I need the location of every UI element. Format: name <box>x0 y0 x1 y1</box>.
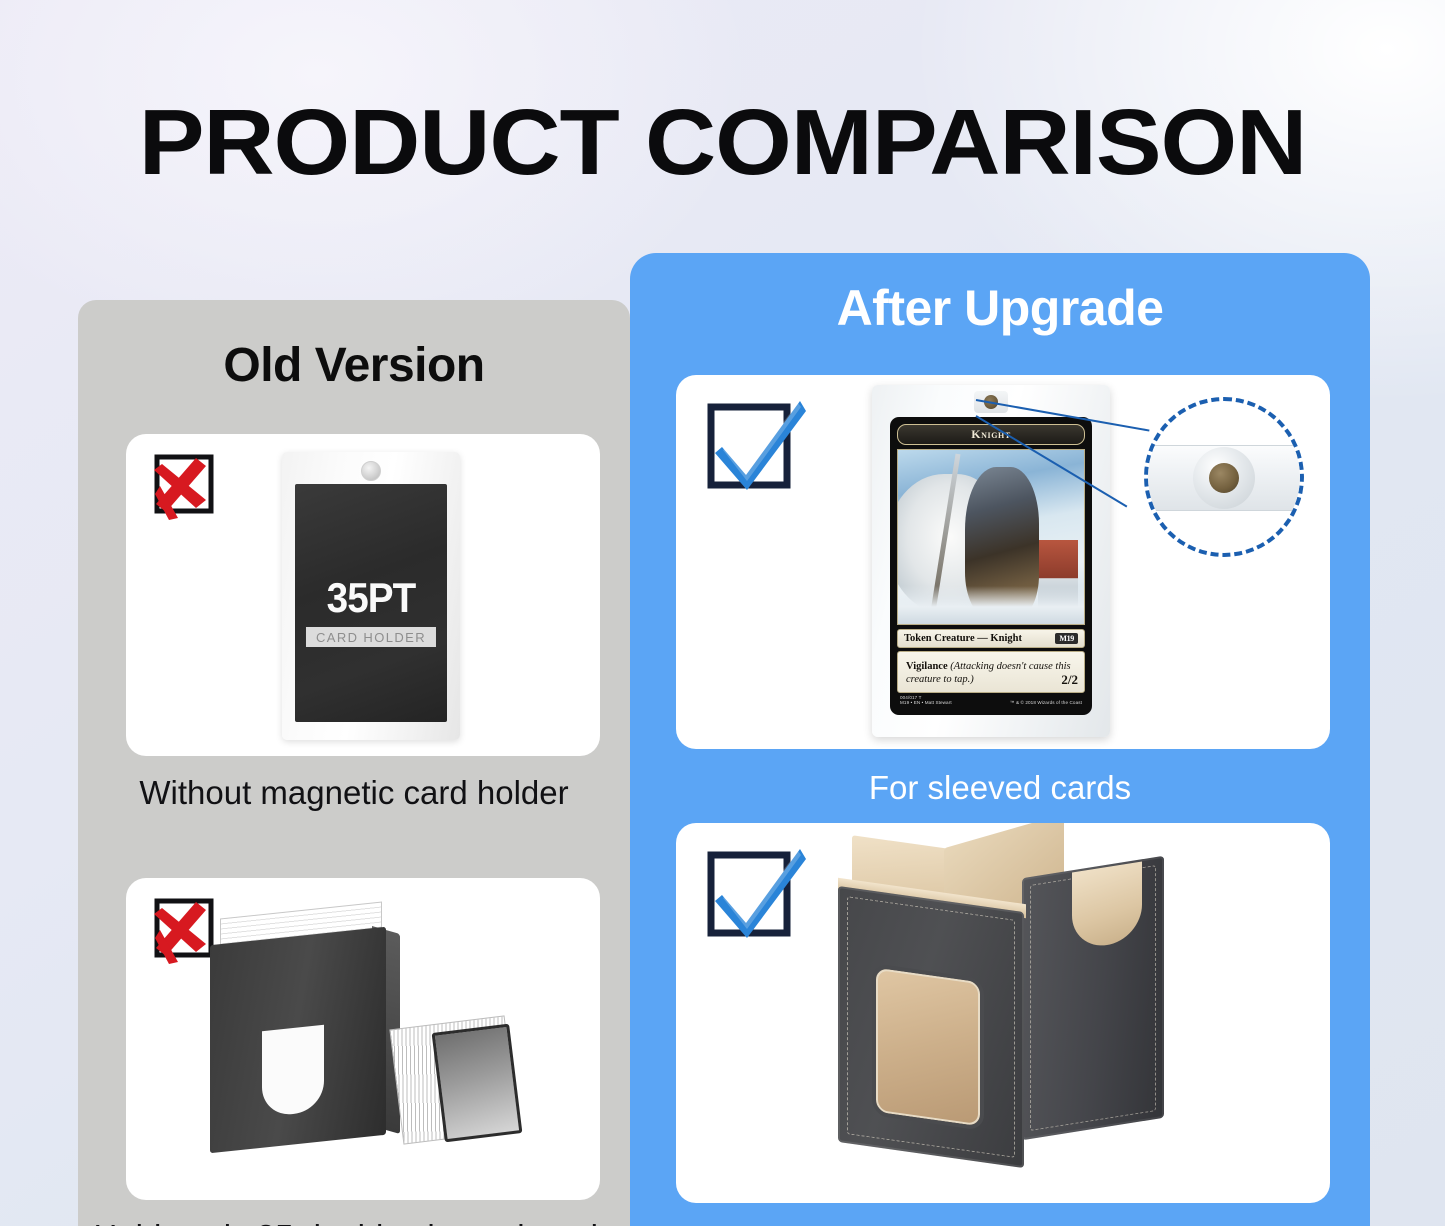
holder-size-label: 35PT <box>301 574 441 622</box>
new-deck-box-graphic <box>826 839 1188 1181</box>
magnetic-card-holder: Knight Token Creature — Knight M19 Vigil… <box>872 385 1110 737</box>
caption-old-item-1: Without magnetic card holder <box>78 774 630 812</box>
product-photo-magnetic-holder: Knight Token Creature — Knight M19 Vigil… <box>676 375 1330 749</box>
card-holder-graphic: 35PT CARD HOLDER <box>282 452 460 740</box>
callout-magnet-stud <box>1193 447 1255 509</box>
product-photo-old-deck-box <box>126 878 600 1200</box>
panel-new-heading: After Upgrade <box>630 279 1370 337</box>
holder-black-insert: 35PT CARD HOLDER <box>295 484 447 722</box>
magnet-detail-callout <box>1144 397 1304 557</box>
holder-hole <box>361 461 381 481</box>
blue-check-icon <box>702 395 806 499</box>
panel-old-heading: Old Version <box>78 338 630 393</box>
card-type-line: Token Creature — Knight <box>904 633 1022 644</box>
card-footer: 004/017 T M19 • EN • Matt Stewart ™ & © … <box>897 693 1085 706</box>
card-text-box: Vigilance (Attacking doesn't cause this … <box>897 651 1085 693</box>
old-deck-box-graphic <box>200 902 426 1150</box>
product-photo-new-deck-box <box>676 823 1330 1203</box>
trading-card: Knight Token Creature — Knight M19 Vigil… <box>890 417 1092 715</box>
blue-check-icon <box>702 843 806 947</box>
panel-after-upgrade: After Upgrade Knight <box>630 253 1370 1226</box>
card-keyword: Vigilance <box>906 661 948 672</box>
art-ground <box>898 586 1084 624</box>
deck-box-thumb-notch <box>262 1025 324 1118</box>
caption-old-item-2: Holds only 35 double sleeved cards <box>78 1218 630 1226</box>
caption-new-item-1: For sleeved cards <box>630 769 1370 807</box>
red-x-icon <box>144 450 220 526</box>
card-name: Knight <box>897 424 1085 445</box>
card-set-symbol: M19 <box>1055 633 1078 644</box>
card-set-artist: M19 • EN • Matt Stewart <box>900 700 952 706</box>
card-legal-line: ™ & © 2018 Wizards of the Coast <box>1010 700 1082 706</box>
card-artwork <box>897 449 1085 625</box>
card-power-toughness: 2/2 <box>1061 672 1078 688</box>
card-type-line-row: Token Creature — Knight M19 <box>897 629 1085 648</box>
product-photo-card-holder: 35PT CARD HOLDER <box>126 434 600 756</box>
page-title: PRODUCT COMPARISON <box>0 96 1445 189</box>
deck-box-window-panel <box>872 963 984 1131</box>
infographic-root: PRODUCT COMPARISON Old Version 35PT CARD… <box>0 0 1445 1226</box>
holder-sub-label: CARD HOLDER <box>306 627 436 647</box>
loose-card-face <box>432 1024 523 1143</box>
panel-old-version: Old Version 35PT CARD HOLDER Without mag <box>78 300 630 1226</box>
